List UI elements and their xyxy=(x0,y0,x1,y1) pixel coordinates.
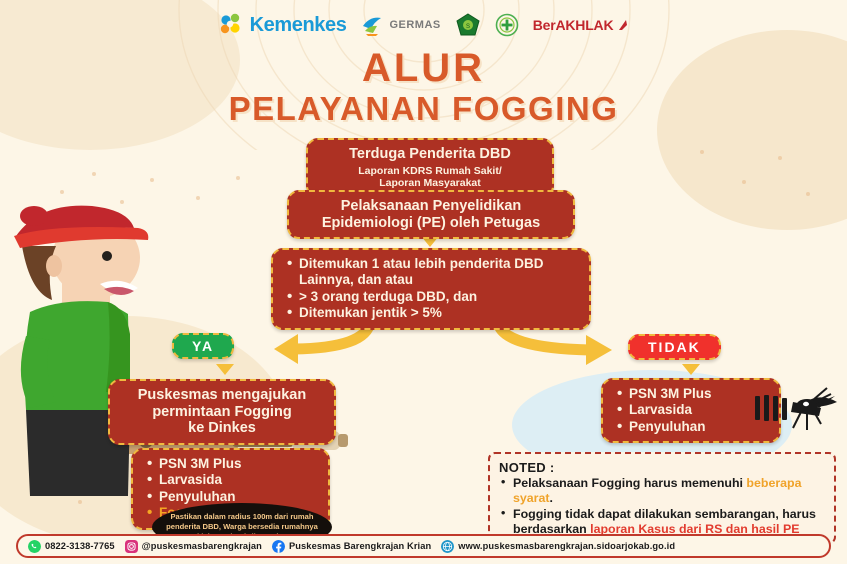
node3-item: Ditemukan jentik > 5% xyxy=(285,305,577,321)
no-action-item: Larvasida xyxy=(615,402,767,418)
yes-node-line2: permintaan Fogging xyxy=(122,404,322,421)
noted-item1-part3: . xyxy=(550,491,553,505)
instagram-icon xyxy=(125,540,138,553)
title-line-2: PELAYANAN FOGGING xyxy=(0,90,847,128)
yes-action-item: Larvasida xyxy=(145,472,316,488)
page-title: ALUR PELAYANAN FOGGING xyxy=(0,48,847,128)
node2-line2: Epidemiologi (PE) oleh Petugas xyxy=(301,215,561,232)
footer-instagram-text: @puskesmasbarengkrajan xyxy=(142,541,262,551)
footer-website[interactable]: www.puskesmasbarengkrajan.sidoarjokab.go… xyxy=(441,540,675,553)
noted-item1-part1: Pelaksanaan Fogging harus memenuhi xyxy=(513,476,746,490)
mosquito-illustration xyxy=(749,382,841,444)
noted-heading: NOTED : xyxy=(499,460,825,475)
flow-node-penyelidikan-epidemiologi: Pelaksanaan Penyelidikan Epidemiologi (P… xyxy=(287,190,575,239)
flow-node-terduga-penderita: Terduga Penderita DBD Laporan KDRS Rumah… xyxy=(306,138,554,198)
germas-label: GERMAS xyxy=(389,19,440,31)
germas-icon xyxy=(360,14,384,36)
arrow-no-to-list xyxy=(682,364,700,375)
node3-criteria-list: Ditemukan 1 atau lebih penderita DBD Lai… xyxy=(285,256,577,322)
node3-item: Ditemukan 1 atau lebih penderita DBD Lai… xyxy=(285,256,577,289)
yes-node-line3: ke Dinkes xyxy=(122,420,322,437)
footer-website-text: www.puskesmasbarengkrajan.sidoarjokab.go… xyxy=(458,541,675,551)
node1-title: Terduga Penderita DBD xyxy=(320,146,540,163)
flow-node-puskesmas-request: Puskesmas mengajukan permintaan Fogging … xyxy=(108,379,336,445)
header-logo-bar: Kemenkes GERMAS S BerAKHLAK xyxy=(0,0,847,50)
footer-phone[interactable]: 0822-3138-7765 xyxy=(28,540,115,553)
title-line-1: ALUR xyxy=(0,48,847,88)
noted-item-1: Pelaksanaan Fogging harus memenuhi beber… xyxy=(499,476,825,507)
footer-phone-text: 0822-3138-7765 xyxy=(45,541,115,551)
branch-label-yes: YA xyxy=(172,333,234,359)
flow-node-kriteria: Ditemukan 1 atau lebih penderita DBD Lai… xyxy=(271,248,591,330)
no-action-item: PSN 3M Plus xyxy=(615,386,767,402)
whatsapp-icon xyxy=(28,540,41,553)
footer-facebook[interactable]: Puskesmas Barengkrajan Krian xyxy=(272,540,431,553)
germas-logo: GERMAS xyxy=(360,14,440,36)
node2-line1: Pelaksanaan Penyelidikan xyxy=(301,198,561,215)
berakhlak-label: BerAKHLAK xyxy=(533,17,614,33)
contact-footer: 0822-3138-7765 @puskesmasbarengkrajan Pu… xyxy=(16,534,831,558)
globe-icon xyxy=(441,540,454,553)
poster-canvas: Kemenkes GERMAS S BerAKHLAK xyxy=(0,0,847,564)
yes-node-line1: Puskesmas mengajukan xyxy=(122,387,322,404)
footer-instagram[interactable]: @puskesmasbarengkrajan xyxy=(125,540,262,553)
no-action-item: Penyuluhan xyxy=(615,419,767,435)
berakhlak-logo: BerAKHLAK xyxy=(533,17,629,33)
kemenkes-icon xyxy=(219,13,245,37)
footer-facebook-text: Puskesmas Barengkrajan Krian xyxy=(289,541,431,551)
noted-box: NOTED : Pelaksanaan Fogging harus memenu… xyxy=(488,452,836,544)
kemenkes-logo: Kemenkes xyxy=(219,13,347,37)
sidoarjo-emblem-icon: S xyxy=(455,13,481,37)
branch-label-no: TIDAK xyxy=(628,334,721,360)
berakhlak-swoosh-icon xyxy=(618,19,628,31)
node1-sub-line2: Laporan Masyarakat xyxy=(320,177,540,190)
svg-text:S: S xyxy=(466,24,470,30)
yes-action-item: PSN 3M Plus xyxy=(145,456,316,472)
facebook-icon xyxy=(272,540,285,553)
puskesmas-emblem-icon xyxy=(495,13,519,37)
kemenkes-label: Kemenkes xyxy=(250,14,347,37)
no-actions-list: PSN 3M Plus Larvasida Penyuluhan xyxy=(615,386,767,435)
node1-sub-line1: Laporan KDRS Rumah Sakit/ xyxy=(320,165,540,178)
node3-item: > 3 orang terduga DBD, dan xyxy=(285,289,577,305)
arrow-yes-to-puskesmas xyxy=(216,364,234,375)
